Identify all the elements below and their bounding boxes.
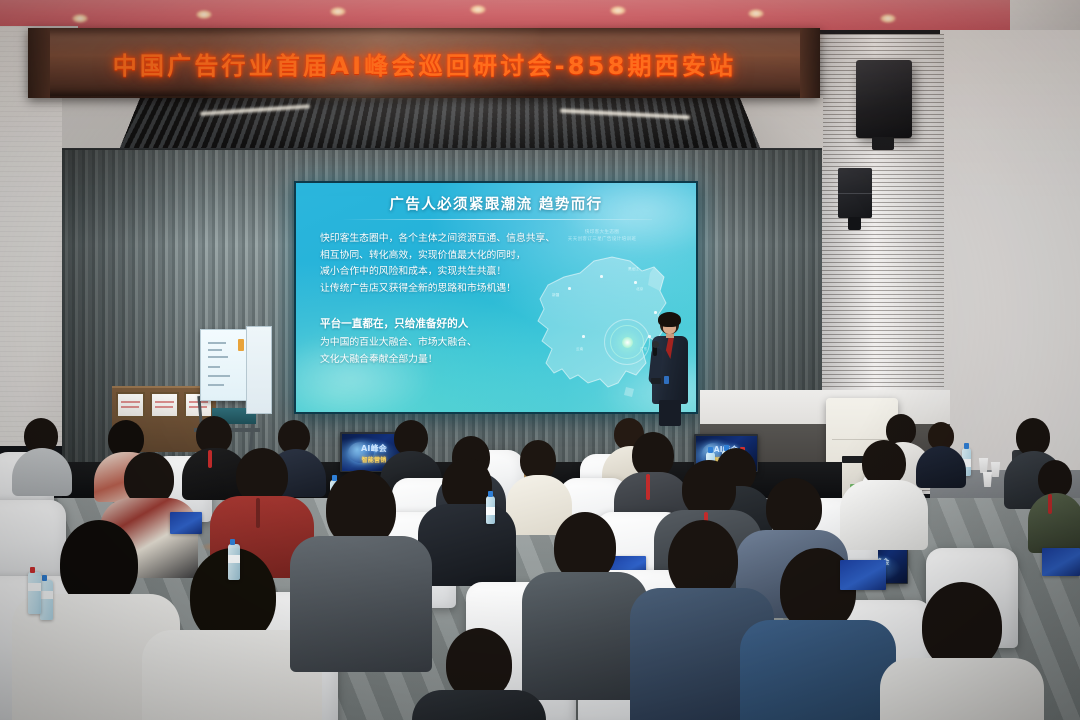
presenter-legs <box>659 400 681 426</box>
person-head <box>922 582 1002 670</box>
framed-certificate <box>150 392 179 418</box>
wall-speaker-large <box>856 60 912 138</box>
person-torso <box>880 658 1044 720</box>
flipchart-writing <box>208 375 230 377</box>
audience-member <box>1028 460 1080 550</box>
audience-member-foreground <box>300 470 422 660</box>
audience-member <box>422 458 512 580</box>
slide-body-line: 减小合作中的风险和成本，实现共生共赢！ <box>320 264 535 281</box>
person-torso <box>12 448 72 496</box>
person-torso <box>290 536 432 672</box>
slide-body-line: 让传统广告店又获得全新的思路和市场机遇！ <box>320 281 535 298</box>
map-label: 北京 <box>636 287 643 292</box>
map-node <box>600 275 603 278</box>
downlight <box>330 7 346 16</box>
map-label: 新疆 <box>552 293 559 298</box>
water-bottle <box>228 544 240 580</box>
audience-member-foreground <box>420 628 536 720</box>
conference-folder <box>840 560 886 590</box>
slide-body-line: 相互协同、转化高效，实现价值最大化的同时， <box>320 248 535 265</box>
person-head <box>766 478 822 538</box>
microphone-head-icon <box>652 341 659 348</box>
ceiling-right-corner <box>1010 0 1080 34</box>
water-bottle <box>486 496 495 524</box>
downlight <box>748 9 764 18</box>
downlight <box>470 5 486 14</box>
led-banner: 中国广告行业首届AI峰会巡回研讨会-858期西安站 <box>42 45 807 81</box>
slide-title-divider <box>342 219 652 220</box>
lanyard <box>256 498 260 528</box>
presenter <box>648 314 692 424</box>
audience-member <box>844 440 926 544</box>
slide-callout-line: 文化大融合奉献全部力量！ <box>320 351 535 369</box>
presenter-hair <box>658 312 681 327</box>
wall-speaker-small <box>838 168 872 218</box>
secondary-whiteboard <box>246 326 272 414</box>
map-label: 黑龙江 <box>628 267 639 272</box>
downlight <box>610 6 626 15</box>
slide-callout-heading: 平台一直都在，只给准备好的人 <box>320 316 535 334</box>
ceiling <box>0 0 1080 30</box>
audience-member-foreground <box>530 512 640 692</box>
flipchart-marker <box>238 339 244 351</box>
map-node <box>568 287 571 290</box>
slide-body-line: 快印客生态圈中，各个主体之间资源互通、信息共享、 <box>320 231 535 248</box>
slide-callout: 平台一直都在，只给准备好的人 为中国的百业大融合、市场大融合、 文化大融合奉献全… <box>320 316 535 369</box>
audience-member-foreground <box>892 582 1032 720</box>
person-head <box>520 440 556 480</box>
map-node <box>634 281 637 284</box>
flipchart-writing <box>208 384 224 386</box>
framed-certificate <box>116 392 145 418</box>
flipchart-writing <box>208 342 226 344</box>
water-bottle <box>40 580 53 620</box>
presenter-phone <box>651 378 661 384</box>
person-torso <box>740 620 896 720</box>
slide-callout-line: 为中国的百业大融合、市场大融合、 <box>320 334 535 352</box>
slide-surface: 广告人必须紧跟潮流 趋势而行 快印客生态圈中，各个主体之间资源互通、信息共享、 … <box>296 183 696 412</box>
map-label: 云南 <box>576 347 583 352</box>
slide-title: 广告人必须紧跟潮流 趋势而行 <box>296 193 696 214</box>
map-node <box>582 335 585 338</box>
person-torso <box>412 690 546 720</box>
water-bottle <box>28 572 41 614</box>
map-center-glow <box>622 337 633 348</box>
lanyard <box>208 450 212 468</box>
slide-body-text: 快印客生态圈中，各个主体之间资源互通、信息共享、 相互协同、转化高效，实现价值最… <box>320 231 535 297</box>
projection-screen: 广告人必须紧跟潮流 趋势而行 快印客生态圈中，各个主体之间资源互通、信息共享、 … <box>294 181 698 414</box>
downlight <box>196 10 212 19</box>
flipchart-writing <box>208 356 228 358</box>
person-torso <box>418 504 516 586</box>
map-label: 广东 <box>640 347 647 352</box>
map-caption-line1: 快印客大生态圈 <box>542 229 662 236</box>
lanyard <box>1048 494 1052 514</box>
downlight <box>880 14 896 23</box>
flipchart-writing <box>208 366 220 368</box>
presenter-badge <box>664 376 669 384</box>
conference-folder <box>1042 548 1080 576</box>
led-banner-text: 中国广告行业首届AI峰会巡回研讨会-858期西安站 <box>113 46 737 81</box>
flipchart-writing <box>208 349 222 351</box>
person-torso <box>840 480 928 550</box>
lanyard <box>646 474 650 500</box>
conference-hall-photo: 中国广告行业首届AI峰会巡回研讨会-858期西安站 广告人必须紧跟潮流 趋势而行… <box>0 0 1080 720</box>
audience-member <box>12 418 72 492</box>
person-torso <box>1028 493 1080 553</box>
downlight <box>72 14 88 23</box>
conference-folder <box>170 512 202 534</box>
